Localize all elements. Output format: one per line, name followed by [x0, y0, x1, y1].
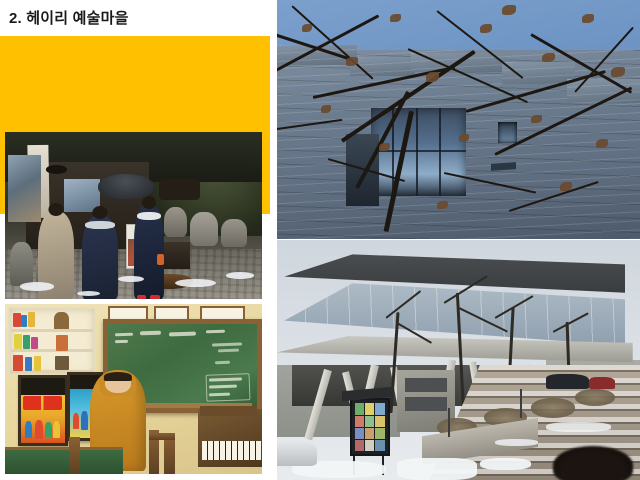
modern-museum-art [277, 240, 640, 480]
photo-slate-building [277, 0, 640, 239]
slide-canvas: 2. 헤이리 예술마을 [0, 0, 640, 480]
exhibition-poster-board [350, 398, 390, 456]
foreground-person-head [553, 446, 633, 480]
classroom-scene-art [5, 304, 262, 474]
upright-piano [198, 409, 262, 467]
photo-retro-classroom [5, 304, 262, 474]
photo-street-market [5, 132, 262, 299]
page-title: 2. 헤이리 예술마을 [9, 7, 129, 28]
slate-building-art [277, 0, 640, 239]
slide-title-bar: 2. 헤이리 예술마을 [0, 0, 277, 36]
street-scene-art [5, 132, 262, 299]
photo-modern-museum [277, 240, 640, 480]
poster-summer-vacation [18, 375, 68, 446]
